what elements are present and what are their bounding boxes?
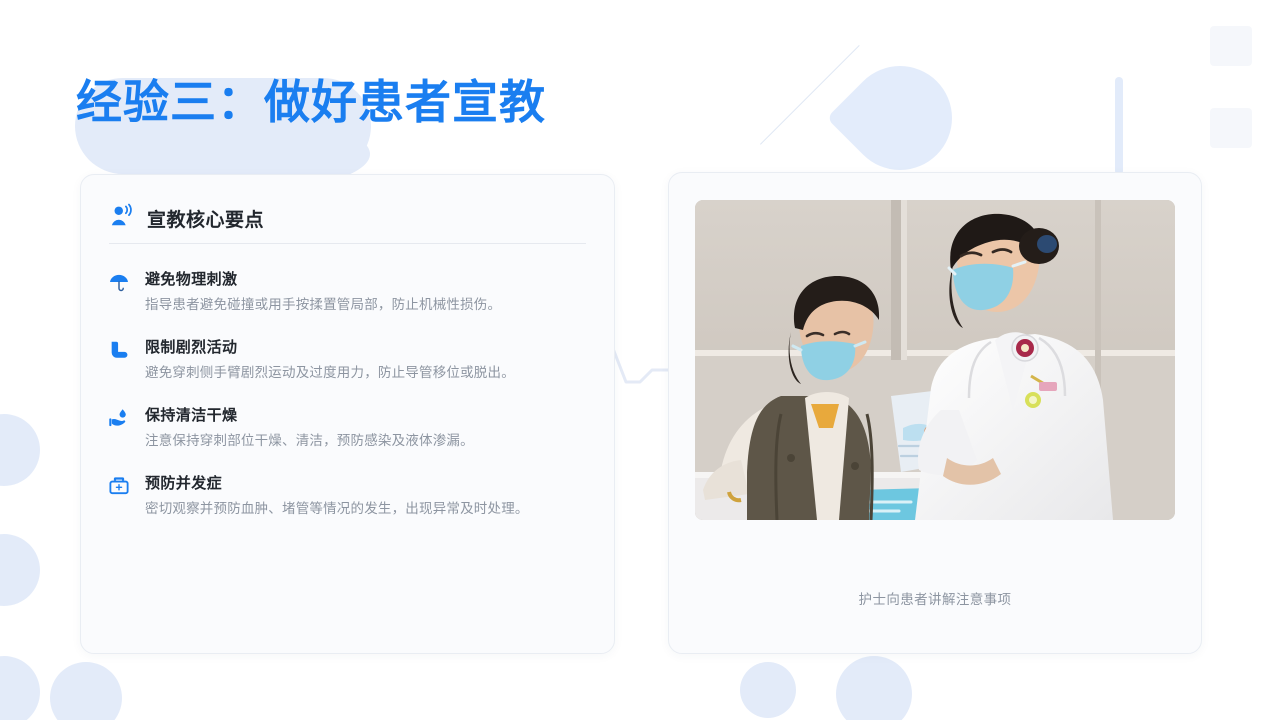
- page-title: 经验三：做好患者宣教: [76, 74, 546, 130]
- list-item-desc: 指导患者避免碰撞或用手按揉置管局部，防止机械性损伤。: [145, 294, 597, 316]
- list-item-title: 限制剧烈活动: [145, 337, 597, 359]
- decor-diagonal-line: [760, 45, 860, 145]
- decor-circle-bottom-2: [740, 662, 796, 718]
- slide-root: 经验三：做好患者宣教 宣教核心要点: [0, 0, 1280, 720]
- list-item: 预防并发症 密切观察并预防血肿、堵管等情况的发生，出现异常及时处理。: [107, 473, 597, 520]
- decor-circle-bottom-3: [836, 656, 912, 720]
- card-header-label: 宣教核心要点: [147, 205, 264, 232]
- list-item-desc: 注意保持穿刺部位干燥、清洁，预防感染及液体渗漏。: [145, 430, 597, 452]
- list-item: 限制剧烈活动 避免穿刺侧手臂剧烈运动及过度用力，防止导管移位或脱出。: [107, 337, 597, 384]
- key-points-card: 宣教核心要点 避免物理刺激 指导患者避免碰撞或用手按揉置管局部，防止机械性损伤。: [80, 174, 615, 654]
- flexed-arm-icon: [107, 337, 131, 365]
- decor-square-right: [1210, 108, 1252, 148]
- decor-circle-bottom-1: [50, 662, 122, 720]
- list-item-title: 保持清洁干燥: [145, 405, 597, 427]
- photo-card: 护士向患者讲解注意事项: [668, 172, 1202, 654]
- decor-vertical-bar: [1115, 77, 1123, 175]
- umbrella-icon: [107, 269, 131, 297]
- decor-circle-left-1: [0, 414, 40, 486]
- list-item: 避免物理刺激 指导患者避免碰撞或用手按揉置管局部，防止机械性损伤。: [107, 269, 597, 316]
- key-points-list: 避免物理刺激 指导患者避免碰撞或用手按揉置管局部，防止机械性损伤。 限制剧烈活动…: [107, 269, 597, 520]
- hand-droplet-icon: [107, 405, 131, 433]
- list-item: 保持清洁干燥 注意保持穿刺部位干燥、清洁，预防感染及液体渗漏。: [107, 405, 597, 452]
- nurse-patient-photo: [695, 200, 1175, 520]
- list-item-title: 预防并发症: [145, 473, 597, 495]
- list-item-desc: 避免穿刺侧手臂剧烈运动及过度用力，防止导管移位或脱出。: [145, 362, 597, 384]
- list-item-title: 避免物理刺激: [145, 269, 597, 291]
- person-speaking-icon: [109, 203, 135, 234]
- decor-circle-left-3: [0, 656, 40, 720]
- medical-kit-icon: [107, 473, 131, 501]
- decor-droplet-top: [826, 44, 973, 191]
- photo-caption: 护士向患者讲解注意事项: [669, 588, 1201, 608]
- decor-square-top-right: [1210, 26, 1252, 66]
- header-divider: [109, 243, 586, 244]
- decor-circle-left-2: [0, 534, 40, 606]
- card-header: 宣教核心要点: [109, 203, 264, 234]
- list-item-desc: 密切观察并预防血肿、堵管等情况的发生，出现异常及时处理。: [145, 498, 597, 520]
